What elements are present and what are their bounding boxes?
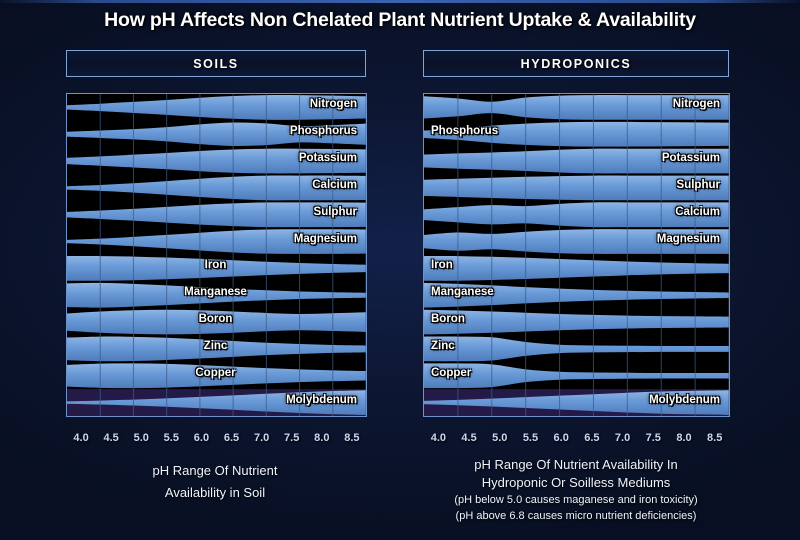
caption-hydro-note2: (pH above 6.8 causes micro nutrient defi… bbox=[398, 508, 754, 524]
x-tick-soils-6: 7.0 bbox=[247, 432, 277, 444]
caption-hydroponics: pH Range Of Nutrient Availability In Hyd… bbox=[398, 456, 754, 524]
panel-header-soils: SOILS bbox=[66, 50, 366, 77]
x-tick-soils-1: 4.5 bbox=[96, 432, 126, 444]
caption-hydro-line2: Hydroponic Or Soilless Mediums bbox=[398, 474, 754, 492]
band-nitrogen bbox=[67, 95, 366, 120]
x-tick-soils-4: 6.0 bbox=[186, 432, 216, 444]
band-manganese bbox=[67, 283, 366, 308]
page-title: How pH Affects Non Chelated Plant Nutrie… bbox=[0, 9, 800, 32]
band-sulphur bbox=[424, 176, 729, 201]
band-chart-hydroponics bbox=[424, 94, 729, 416]
x-tick-soils-2: 5.0 bbox=[126, 432, 156, 444]
band-manganese bbox=[424, 283, 729, 308]
x-tick-hydro-8: 8.0 bbox=[669, 432, 700, 444]
band-magnesium bbox=[67, 229, 366, 254]
chart-canvas: How pH Affects Non Chelated Plant Nutrie… bbox=[0, 0, 800, 540]
caption-soils-line2: Availability in Soil bbox=[40, 482, 390, 504]
x-tick-soils-3: 5.5 bbox=[156, 432, 186, 444]
x-tick-hydro-5: 6.5 bbox=[577, 432, 608, 444]
x-tick-hydro-4: 6.0 bbox=[546, 432, 577, 444]
band-phosphorus bbox=[424, 122, 729, 147]
caption-hydro-note1: (pH below 5.0 causes maganese and iron t… bbox=[398, 492, 754, 508]
caption-hydro-line1: pH Range Of Nutrient Availability In bbox=[398, 456, 754, 474]
x-tick-hydro-2: 5.0 bbox=[484, 432, 515, 444]
band-iron bbox=[424, 256, 729, 281]
caption-soils-line1: pH Range Of Nutrient bbox=[40, 460, 390, 482]
x-tick-soils-0: 4.0 bbox=[66, 432, 96, 444]
band-phosphorus bbox=[67, 122, 366, 146]
band-zinc bbox=[424, 337, 729, 362]
caption-soils: pH Range Of Nutrient Availability in Soi… bbox=[40, 460, 390, 504]
x-axis-hydroponics: 4.04.55.05.56.06.57.07.58.08.5 bbox=[423, 432, 730, 444]
x-tick-hydro-7: 7.5 bbox=[638, 432, 669, 444]
top-accent-bar bbox=[0, 0, 800, 3]
x-tick-hydro-6: 7.0 bbox=[607, 432, 638, 444]
x-tick-soils-7: 7.5 bbox=[277, 432, 307, 444]
x-tick-soils-5: 6.5 bbox=[216, 432, 246, 444]
band-zinc bbox=[67, 337, 366, 362]
x-tick-soils-8: 8.0 bbox=[307, 432, 337, 444]
x-tick-hydro-0: 4.0 bbox=[423, 432, 454, 444]
band-copper bbox=[67, 363, 366, 388]
x-tick-hydro-1: 4.5 bbox=[454, 432, 485, 444]
x-tick-soils-9: 8.5 bbox=[337, 432, 367, 444]
band-potassium bbox=[67, 149, 366, 174]
band-calcium bbox=[67, 175, 366, 200]
band-sulphur bbox=[67, 202, 366, 227]
x-tick-hydro-9: 8.5 bbox=[699, 432, 730, 444]
x-axis-soils: 4.04.55.05.56.06.57.07.58.08.5 bbox=[66, 432, 367, 444]
band-boron bbox=[67, 310, 366, 335]
band-copper bbox=[424, 363, 729, 388]
panel-hydroponics: HYDROPONICS bbox=[423, 50, 729, 77]
band-chart-soils bbox=[67, 94, 366, 416]
panel-soils: SOILS bbox=[66, 50, 366, 77]
plot-area-hydroponics bbox=[423, 93, 730, 417]
x-tick-hydro-3: 5.5 bbox=[515, 432, 546, 444]
plot-area-soils bbox=[66, 93, 367, 417]
band-nitrogen bbox=[424, 95, 729, 120]
band-calcium bbox=[424, 202, 729, 227]
band-magnesium bbox=[424, 229, 729, 254]
panel-header-hydroponics: HYDROPONICS bbox=[423, 50, 729, 77]
band-iron bbox=[67, 256, 366, 281]
band-potassium bbox=[424, 149, 729, 174]
band-boron bbox=[424, 310, 729, 335]
